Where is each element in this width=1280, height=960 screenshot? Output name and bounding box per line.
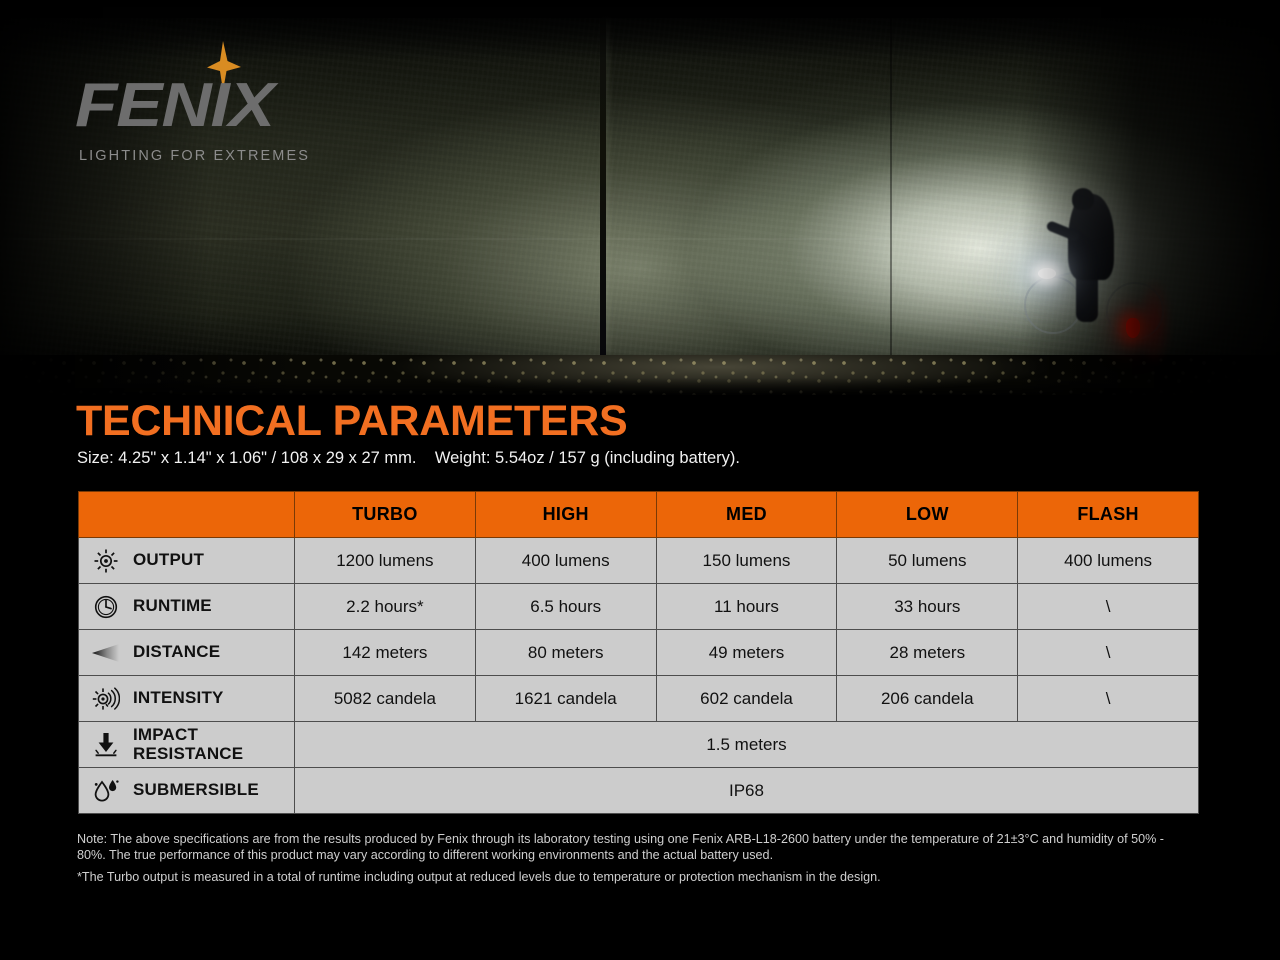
brand-tagline: LIGHTING FOR EXTREMES [79, 148, 310, 164]
note-specifications: Note: The above specifications are from … [77, 831, 1192, 864]
cell-output-turbo: 1200 lumens [295, 538, 476, 584]
header-med: MED [656, 492, 837, 538]
brand-logo: FENIX LIGHTING FOR EXTREMES [75, 45, 405, 140]
cell-intensity-turbo: 5082 candela [295, 676, 476, 722]
cell-output-high: 400 lumens [475, 538, 656, 584]
row-label-distance: DISTANCE [79, 630, 295, 676]
cell-distance-low: 28 meters [837, 630, 1018, 676]
cell-runtime-low: 33 hours [837, 584, 1018, 630]
header-high: HIGH [475, 492, 656, 538]
row-label-impact-resistance: IMPACTRESISTANCE [79, 722, 295, 768]
impact-arrow-icon [91, 730, 121, 760]
hero-vignette-right [1020, 0, 1280, 395]
table-row: SUBMERSIBLE IP68 [79, 768, 1199, 814]
row-label-text: RUNTIME [133, 597, 212, 615]
cell-intensity-flash: \ [1018, 676, 1199, 722]
spec-content: TECHNICAL PARAMETERS Size: 4.25" x 1.14"… [0, 395, 1280, 960]
cell-distance-high: 80 meters [475, 630, 656, 676]
table-row: INTENSITY 5082 candela 1621 candela 602 … [79, 676, 1199, 722]
cell-runtime-flash: \ [1018, 584, 1199, 630]
sun-output-icon [91, 546, 121, 576]
header-low: LOW [837, 492, 1018, 538]
table-header-row: TURBO HIGH MED LOW FLASH [79, 492, 1199, 538]
header-turbo: TURBO [295, 492, 476, 538]
cell-intensity-low: 206 candela [837, 676, 1018, 722]
impact-label-line1: IMPACT [133, 725, 198, 744]
row-label-text: IMPACTRESISTANCE [133, 726, 243, 763]
cell-distance-med: 49 meters [656, 630, 837, 676]
product-spec-page: FENIX LIGHTING FOR EXTREMES TECHNICAL PA… [0, 0, 1280, 960]
brand-name: FENIX [75, 75, 274, 137]
water-drop-icon [91, 776, 121, 806]
page-title: TECHNICAL PARAMETERS [76, 399, 627, 444]
cell-runtime-high: 6.5 hours [475, 584, 656, 630]
row-label-text: SUBMERSIBLE [133, 781, 259, 799]
cell-runtime-med: 11 hours [656, 584, 837, 630]
row-label-text: INTENSITY [133, 689, 224, 707]
wall-expansion-joint [600, 18, 606, 356]
sun-waves-intensity-icon [91, 684, 121, 714]
cell-output-med: 150 lumens [656, 538, 837, 584]
hero-vignette-bottom [0, 378, 1280, 395]
cell-distance-flash: \ [1018, 630, 1199, 676]
hero-photo: FENIX LIGHTING FOR EXTREMES [0, 0, 1280, 395]
clock-runtime-icon [91, 592, 121, 622]
row-label-submersible: SUBMERSIBLE [79, 768, 295, 814]
note-turbo-output: *The Turbo output is measured in a total… [77, 869, 1192, 885]
table-row: IMPACTRESISTANCE 1.5 meters [79, 722, 1199, 768]
impact-label-line2: RESISTANCE [133, 744, 243, 763]
row-label-text: DISTANCE [133, 643, 220, 661]
cell-intensity-med: 602 candela [656, 676, 837, 722]
beam-distance-icon [91, 638, 121, 668]
header-blank [79, 492, 295, 538]
row-label-text: OUTPUT [133, 551, 204, 569]
table-row: DISTANCE 142 meters 80 meters 49 meters … [79, 630, 1199, 676]
size-weight-line: Size: 4.25" x 1.14" x 1.06" / 108 x 29 x… [77, 449, 740, 468]
cell-output-flash: 400 lumens [1018, 538, 1199, 584]
row-label-runtime: RUNTIME [79, 584, 295, 630]
header-flash: FLASH [1018, 492, 1199, 538]
cell-runtime-turbo: 2.2 hours* [295, 584, 476, 630]
cell-impact-resistance-value: 1.5 meters [295, 722, 1199, 768]
technical-parameters-table: TURBO HIGH MED LOW FLASH [78, 491, 1199, 814]
row-label-output: OUTPUT [79, 538, 295, 584]
table-row: RUNTIME 2.2 hours* 6.5 hours 11 hours 33… [79, 584, 1199, 630]
cell-submersible-value: IP68 [295, 768, 1199, 814]
cell-intensity-high: 1621 candela [475, 676, 656, 722]
cell-distance-turbo: 142 meters [295, 630, 476, 676]
table-row: OUTPUT 1200 lumens 400 lumens 150 lumens… [79, 538, 1199, 584]
cell-output-low: 50 lumens [837, 538, 1018, 584]
row-label-intensity: INTENSITY [79, 676, 295, 722]
wall-expansion-joint-secondary [890, 18, 892, 356]
